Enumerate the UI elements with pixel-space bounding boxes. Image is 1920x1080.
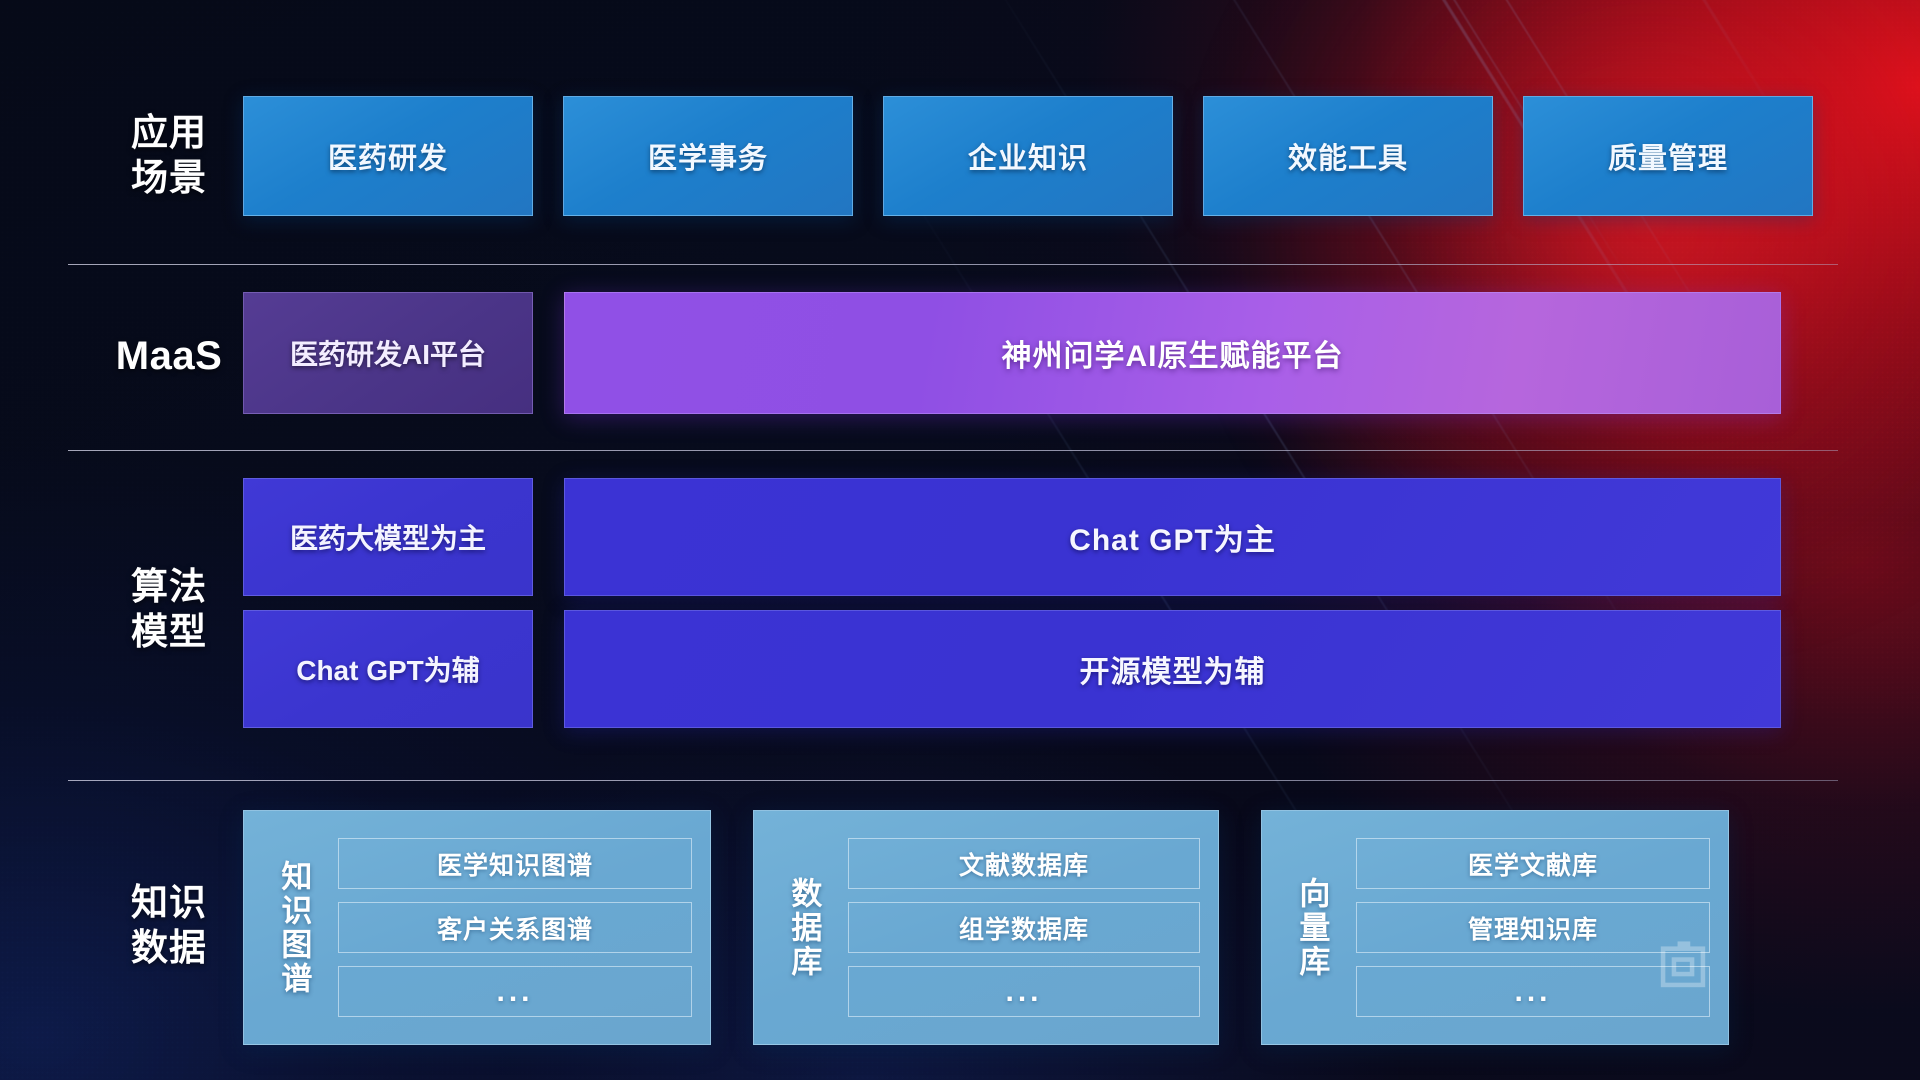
application-box-enterprise-knowledge[interactable]: 企业知识 [883, 96, 1173, 216]
application-box-track: 医药研发 医学事务 企业知识 效能工具 质量管理 [243, 96, 1813, 216]
knowledge-panel-vector-store[interactable]: 向量库 医学文献库 管理知识库 ... [1261, 810, 1729, 1045]
maas-box-shenzhou-wenxue-platform[interactable]: 神州问学AI原生赋能平台 [564, 292, 1781, 414]
knowledge-panel-database[interactable]: 数据库 文献数据库 组学数据库 ... [753, 810, 1219, 1045]
algorithm-box-medicine-large-model-primary[interactable]: 医药大模型为主 [243, 478, 533, 596]
application-label-line-2: 场景 [94, 155, 244, 200]
knowledge-item-omics-database[interactable]: 组学数据库 [848, 902, 1200, 953]
algorithm-box-chatgpt-primary[interactable]: Chat GPT为主 [564, 478, 1781, 596]
divider-algorithm-knowledge [68, 780, 1838, 781]
knowledge-item-more-database[interactable]: ... [848, 966, 1200, 1017]
knowledge-item-more-graph[interactable]: ... [338, 966, 692, 1017]
maas-box-track: 医药研发AI平台 神州问学AI原生赋能平台 [243, 292, 1781, 414]
application-layer-row: 应用 场景 医药研发 医学事务 企业知识 效能工具 质量管理 [68, 96, 1838, 216]
divider-application-maas [68, 264, 1838, 265]
knowledge-item-list: 文献数据库 组学数据库 ... [848, 825, 1200, 1030]
application-box-medicine-rd[interactable]: 医药研发 [243, 96, 533, 216]
knowledge-panel-track: 知识图谱 医学知识图谱 客户关系图谱 ... 数据库 文献数据库 组学数据库 .… [243, 810, 1729, 1045]
knowledge-panel-knowledge-graph[interactable]: 知识图谱 医学知识图谱 客户关系图谱 ... [243, 810, 711, 1045]
algorithm-label-line-2: 模型 [94, 609, 244, 654]
architecture-diagram: 应用 场景 医药研发 医学事务 企业知识 效能工具 质量管理 MaaS 医药研发… [0, 0, 1920, 1080]
algorithm-layer-row: 算法 模型 医药大模型为主 Chat GPT为主 Chat GPT为辅 开源模型… [68, 478, 1838, 746]
application-box-quality-management[interactable]: 质量管理 [1523, 96, 1813, 216]
knowledge-item-list: 医学知识图谱 客户关系图谱 ... [338, 825, 692, 1030]
knowledge-item-medical-literature-store[interactable]: 医学文献库 [1356, 838, 1710, 889]
algorithm-label-line-1: 算法 [94, 564, 244, 609]
algorithm-layer-label: 算法 模型 [94, 564, 244, 654]
knowledge-layer-row: 知识 数据 知识图谱 医学知识图谱 客户关系图谱 ... 数据库 文献数据库 [68, 810, 1838, 1045]
algorithm-row-secondary: Chat GPT为辅 开源模型为辅 [243, 610, 1781, 728]
application-box-medical-affairs[interactable]: 医学事务 [563, 96, 853, 216]
maas-layer-label: MaaS [94, 332, 244, 381]
application-layer-label: 应用 场景 [94, 110, 244, 200]
knowledge-item-list: 医学文献库 管理知识库 ... [1356, 825, 1710, 1030]
knowledge-item-more-vector[interactable]: ... [1356, 966, 1710, 1017]
application-box-efficiency-tools[interactable]: 效能工具 [1203, 96, 1493, 216]
knowledge-label-line-2: 数据 [94, 925, 244, 970]
maas-box-medicine-ai-platform[interactable]: 医药研发AI平台 [243, 292, 533, 414]
knowledge-panel-label-knowledge-graph: 知识图谱 [262, 825, 324, 1030]
knowledge-panel-label-database: 数据库 [772, 825, 834, 1030]
knowledge-item-literature-database[interactable]: 文献数据库 [848, 838, 1200, 889]
knowledge-label-line-1: 知识 [94, 880, 244, 925]
knowledge-item-medical-knowledge-graph[interactable]: 医学知识图谱 [338, 838, 692, 889]
divider-maas-algorithm [68, 450, 1838, 451]
knowledge-panel-label-vector-store: 向量库 [1280, 825, 1342, 1030]
knowledge-item-customer-relation-graph[interactable]: 客户关系图谱 [338, 902, 692, 953]
maas-layer-row: MaaS 医药研发AI平台 神州问学AI原生赋能平台 [68, 292, 1838, 414]
knowledge-layer-label: 知识 数据 [94, 880, 244, 970]
algorithm-box-opensource-secondary[interactable]: 开源模型为辅 [564, 610, 1781, 728]
algorithm-row-primary: 医药大模型为主 Chat GPT为主 [243, 478, 1781, 596]
algorithm-box-chatgpt-secondary[interactable]: Chat GPT为辅 [243, 610, 533, 728]
application-label-line-1: 应用 [94, 110, 244, 155]
knowledge-item-management-knowledge-store[interactable]: 管理知识库 [1356, 902, 1710, 953]
